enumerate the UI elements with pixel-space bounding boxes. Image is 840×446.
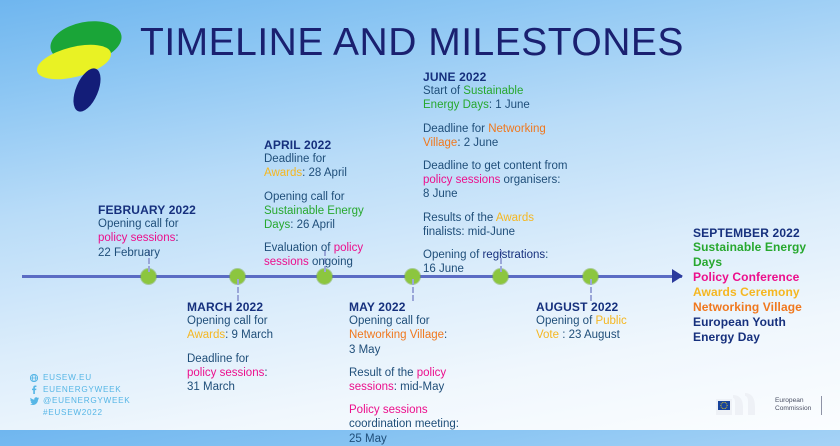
text-run: Policy sessions bbox=[349, 404, 428, 416]
text-run: 22 February bbox=[98, 247, 160, 259]
text-run: finalists: mid-June bbox=[423, 226, 515, 238]
milestone-block-august: AUGUST 2022Opening of PublicVote : 23 Au… bbox=[536, 300, 666, 343]
social-label: EUSEW.EU bbox=[43, 373, 92, 382]
text-run: : bbox=[264, 367, 267, 379]
milestone-entry: Result of the policysessions: mid-May bbox=[349, 366, 484, 394]
text-run: Opening call for bbox=[264, 191, 345, 203]
milestone-heading: MAY 2022 bbox=[349, 300, 484, 314]
text-run: Result of the bbox=[349, 367, 417, 379]
social-label: @EUENERGYWEEK bbox=[43, 396, 130, 405]
text-run: Vote bbox=[536, 329, 562, 341]
text-run: Networking bbox=[488, 123, 546, 135]
text-run: policy sessions bbox=[187, 367, 264, 379]
text-run: : 2 June bbox=[457, 137, 498, 149]
facebook-icon bbox=[30, 385, 43, 394]
milestone-entry: Opening call forNetworking Village:3 May bbox=[349, 314, 484, 357]
text-run: 25 May bbox=[349, 433, 387, 445]
text-run: : mid-May bbox=[394, 381, 444, 393]
milestone-entry: Policy sessionscoordination meeting:25 M… bbox=[349, 403, 484, 446]
text-run: : 28 April bbox=[302, 167, 347, 179]
eu-name-line2: Commission bbox=[775, 405, 811, 413]
text-run: sessions bbox=[264, 256, 309, 268]
milestone-block-june: JUNE 2022Start of SustainableEnergy Days… bbox=[423, 70, 583, 276]
text-run: organisers: bbox=[500, 174, 560, 186]
text-run: Opening call for bbox=[187, 315, 268, 327]
text-run: Opening of bbox=[536, 315, 595, 327]
milestone-heading: FEBRUARY 2022 bbox=[98, 203, 218, 217]
timeline-stem-may bbox=[412, 279, 414, 301]
september-event: Sustainable Energy bbox=[693, 240, 833, 255]
timeline-stem-march bbox=[237, 279, 239, 301]
milestone-entry: Opening call forSustainable EnergyDays: … bbox=[264, 190, 394, 233]
text-run: : 9 March bbox=[225, 329, 273, 341]
september-event: Days bbox=[693, 255, 833, 270]
milestone-entry: Deadline forpolicy sessions:31 March bbox=[187, 352, 317, 395]
milestone-entry: Deadline to get content frompolicy sessi… bbox=[423, 159, 583, 202]
milestone-entry: Opening call forpolicy sessions:22 Febru… bbox=[98, 217, 218, 260]
milestone-block-may: MAY 2022Opening call forNetworking Villa… bbox=[349, 300, 484, 446]
text-run: Networking Village bbox=[349, 329, 444, 341]
text-run: Awards bbox=[264, 167, 302, 179]
text-run: : 1 June bbox=[489, 99, 530, 111]
infographic-canvas: TIMELINE AND MILESTONES FEBRUARY 2022Ope… bbox=[0, 0, 840, 430]
milestone-heading: MARCH 2022 bbox=[187, 300, 317, 314]
september-event: Energy Day bbox=[693, 330, 833, 345]
milestone-heading: JUNE 2022 bbox=[423, 70, 583, 84]
social-row[interactable]: @EUENERGYWEEK bbox=[30, 395, 130, 407]
text-run: Opening of bbox=[423, 249, 482, 261]
text-run: Start of bbox=[423, 85, 463, 97]
milestone-block-march: MARCH 2022Opening call forAwards: 9 Marc… bbox=[187, 300, 317, 394]
globe-icon bbox=[30, 374, 43, 382]
text-run: 16 June bbox=[423, 263, 464, 275]
timeline-arrow-icon bbox=[672, 269, 683, 283]
eu-flag-icon bbox=[716, 392, 768, 418]
text-run: coordination meeting: bbox=[349, 418, 459, 430]
text-run: sessions bbox=[349, 381, 394, 393]
text-run: Energy Days bbox=[423, 99, 489, 111]
milestone-entry: Start of SustainableEnergy Days: 1 June bbox=[423, 84, 583, 112]
text-run: Awards bbox=[187, 329, 225, 341]
text-run: Sustainable Energy bbox=[264, 205, 364, 217]
text-run: 3 May bbox=[349, 344, 380, 356]
september-event: Awards Ceremony bbox=[693, 285, 833, 300]
milestone-entry: Deadline forAwards: 28 April bbox=[264, 152, 394, 180]
text-run: Days bbox=[264, 219, 290, 231]
september-event: Policy Conference bbox=[693, 270, 833, 285]
september-heading: SEPTEMBER 2022 bbox=[693, 226, 833, 240]
text-run: 8 June bbox=[423, 188, 458, 200]
milestone-entry: Opening of PublicVote : 23 August bbox=[536, 314, 666, 342]
eu-logo-divider bbox=[821, 396, 822, 415]
social-label: #EUSEW2022 bbox=[30, 408, 103, 417]
september-event: Networking Village bbox=[693, 300, 833, 315]
text-run: : 23 August bbox=[562, 329, 620, 341]
eusew-logo bbox=[28, 8, 132, 112]
social-links: EUSEW.EUEUENERGYWEEK@EUENERGYWEEK#EUSEW2… bbox=[30, 372, 130, 418]
eu-name-line1: European bbox=[775, 397, 811, 405]
european-commission-logo: European Commission bbox=[716, 392, 822, 418]
milestone-entry: Opening of registrations:16 June bbox=[423, 248, 583, 276]
timeline-stem-august bbox=[590, 279, 592, 301]
text-run: Awards bbox=[496, 212, 534, 224]
eu-commission-name: European Commission bbox=[775, 397, 811, 414]
text-run: registrations bbox=[482, 249, 545, 261]
milestone-heading: AUGUST 2022 bbox=[536, 300, 666, 314]
text-run: Deadline for bbox=[187, 353, 249, 365]
text-run: : 26 April bbox=[290, 219, 335, 231]
text-run: Village bbox=[423, 137, 457, 149]
milestone-entry: Opening call forAwards: 9 March bbox=[187, 314, 317, 342]
text-run: Results of the bbox=[423, 212, 496, 224]
text-run: Sustainable bbox=[463, 85, 523, 97]
page-title: TIMELINE AND MILESTONES bbox=[140, 20, 684, 66]
text-run: Public bbox=[595, 315, 626, 327]
text-run: 31 March bbox=[187, 381, 235, 393]
text-run: Deadline for bbox=[264, 153, 326, 165]
september-event-list: Sustainable EnergyDaysPolicy ConferenceA… bbox=[693, 240, 833, 345]
text-run: Opening call for bbox=[98, 218, 179, 230]
text-run: policy bbox=[417, 367, 446, 379]
text-run: Deadline for bbox=[423, 123, 488, 135]
text-run: : bbox=[444, 329, 447, 341]
text-run: ongoing bbox=[309, 256, 353, 268]
twitter-icon bbox=[30, 397, 43, 405]
milestone-block-february: FEBRUARY 2022Opening call forpolicy sess… bbox=[98, 203, 218, 260]
milestone-block-april: APRIL 2022Deadline forAwards: 28 AprilOp… bbox=[264, 138, 394, 270]
text-run: Opening call for bbox=[349, 315, 430, 327]
social-row[interactable]: #EUSEW2022 bbox=[30, 407, 130, 419]
social-row[interactable]: EUSEW.EU bbox=[30, 372, 130, 384]
text-run: Evaluation of bbox=[264, 242, 334, 254]
social-row[interactable]: EUENERGYWEEK bbox=[30, 384, 130, 396]
milestone-block-september: SEPTEMBER 2022 Sustainable EnergyDaysPol… bbox=[693, 226, 833, 345]
text-run: policy bbox=[334, 242, 363, 254]
milestone-entry: Results of the Awardsfinalists: mid-June bbox=[423, 211, 583, 239]
text-run: policy sessions bbox=[423, 174, 500, 186]
text-run: : bbox=[545, 249, 548, 261]
september-event: European Youth bbox=[693, 315, 833, 330]
milestone-entry: Evaluation of policysessions ongoing bbox=[264, 241, 394, 269]
milestone-heading: APRIL 2022 bbox=[264, 138, 394, 152]
text-run: policy sessions bbox=[98, 232, 175, 244]
text-run: Deadline to get content from bbox=[423, 160, 567, 172]
social-label: EUENERGYWEEK bbox=[43, 385, 121, 394]
text-run: : bbox=[175, 232, 178, 244]
milestone-entry: Deadline for NetworkingVillage: 2 June bbox=[423, 122, 583, 150]
